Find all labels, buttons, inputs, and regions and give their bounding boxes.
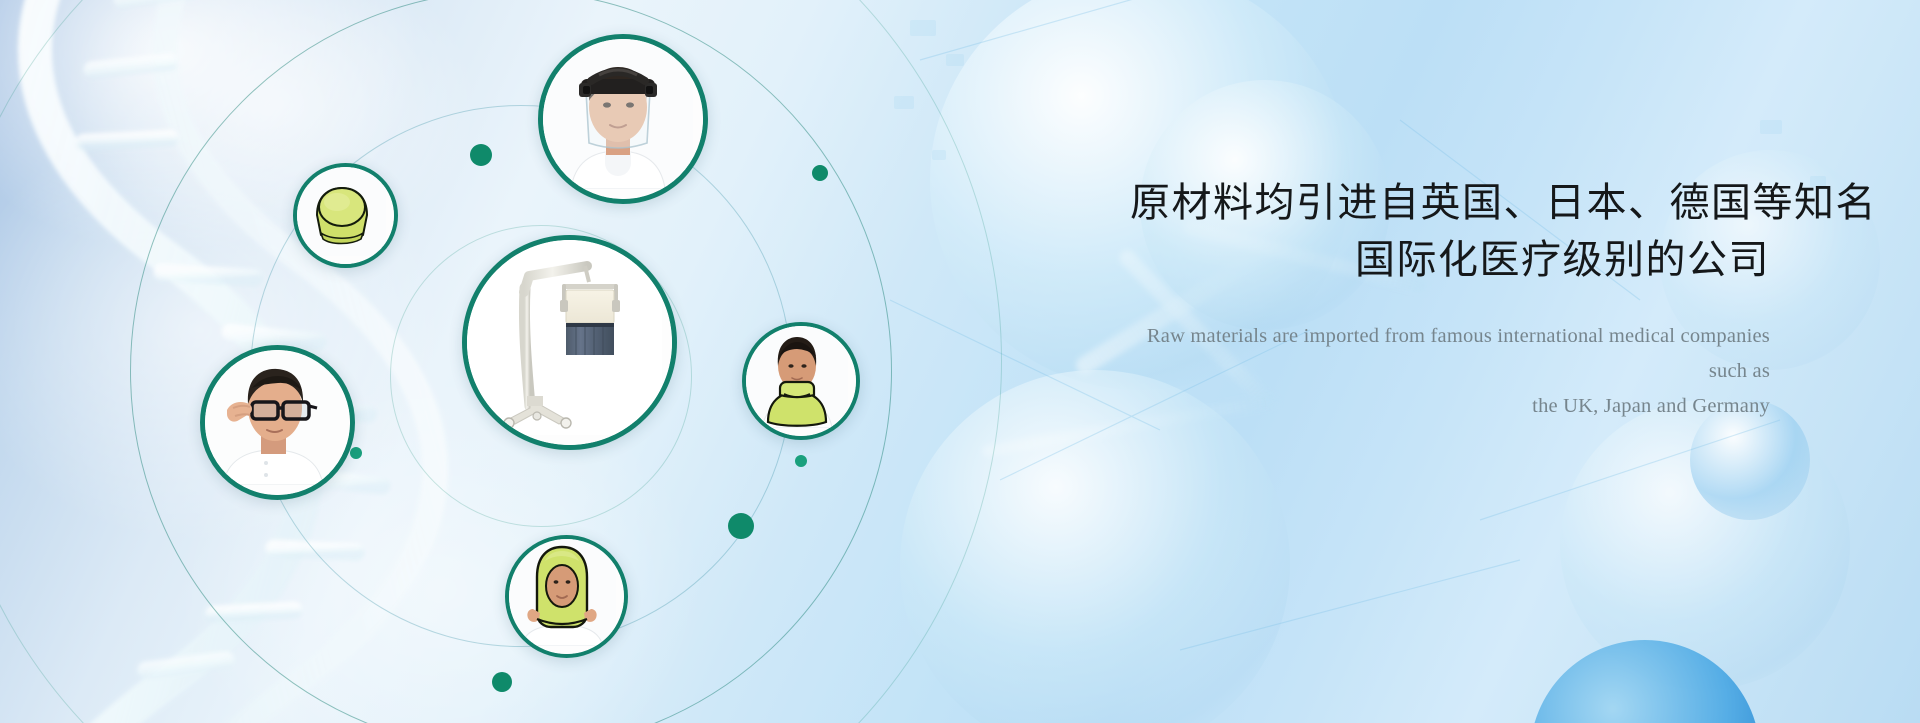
subtitle: Raw materials are imported from famous i… [1130,319,1770,425]
bubble-mobile-x-ray-shield[interactable] [462,235,677,450]
face-shield-photo [543,39,703,199]
accent-dot [812,165,828,181]
hero-copy: 原材料均引进自英国、日本、德国等知名 国际化医疗级别的公司 Raw materi… [1130,175,1770,424]
mobile-x-ray-shield-illustration [467,240,662,435]
accent-dot [795,455,807,467]
thyroid-collar-illustration [746,326,848,428]
protective-cap-illustration [297,167,386,256]
bubble-protective-hood[interactable] [505,535,628,658]
protective-cap-photo [297,167,394,264]
thyroid-collar-photo [746,326,856,436]
mobile-x-ray-shield-photo [467,240,672,445]
lead-glasses-photo [205,350,350,495]
headline-line-2: 国际化医疗级别的公司 [1130,232,1770,289]
hero-banner: 原材料均引进自英国、日本、德国等知名 国际化医疗级别的公司 Raw materi… [0,0,1920,723]
bubble-face-shield[interactable] [538,34,708,204]
bubble-protective-cap[interactable] [293,163,398,268]
accent-dot [728,513,754,539]
face-shield-illustration [543,39,693,189]
subtitle-line-1: Raw materials are imported from famous i… [1130,319,1770,390]
cloud-blob [60,0,480,270]
bubble-thyroid-collar[interactable] [742,322,860,440]
molecule-sphere [1560,400,1850,690]
lead-glasses-illustration [205,350,340,485]
subtitle-line-2: the UK, Japan and Germany [1130,389,1770,424]
accent-dot [492,672,512,692]
bubble-lead-glasses[interactable] [200,345,355,500]
molecule-sphere-accent [1530,640,1760,723]
accent-dot [350,447,362,459]
accent-dot [470,144,492,166]
protective-hood-illustration [509,539,616,646]
headline-line-1: 原材料均引进自英国、日本、德国等知名 [1130,175,1770,232]
protective-hood-photo [509,539,624,654]
